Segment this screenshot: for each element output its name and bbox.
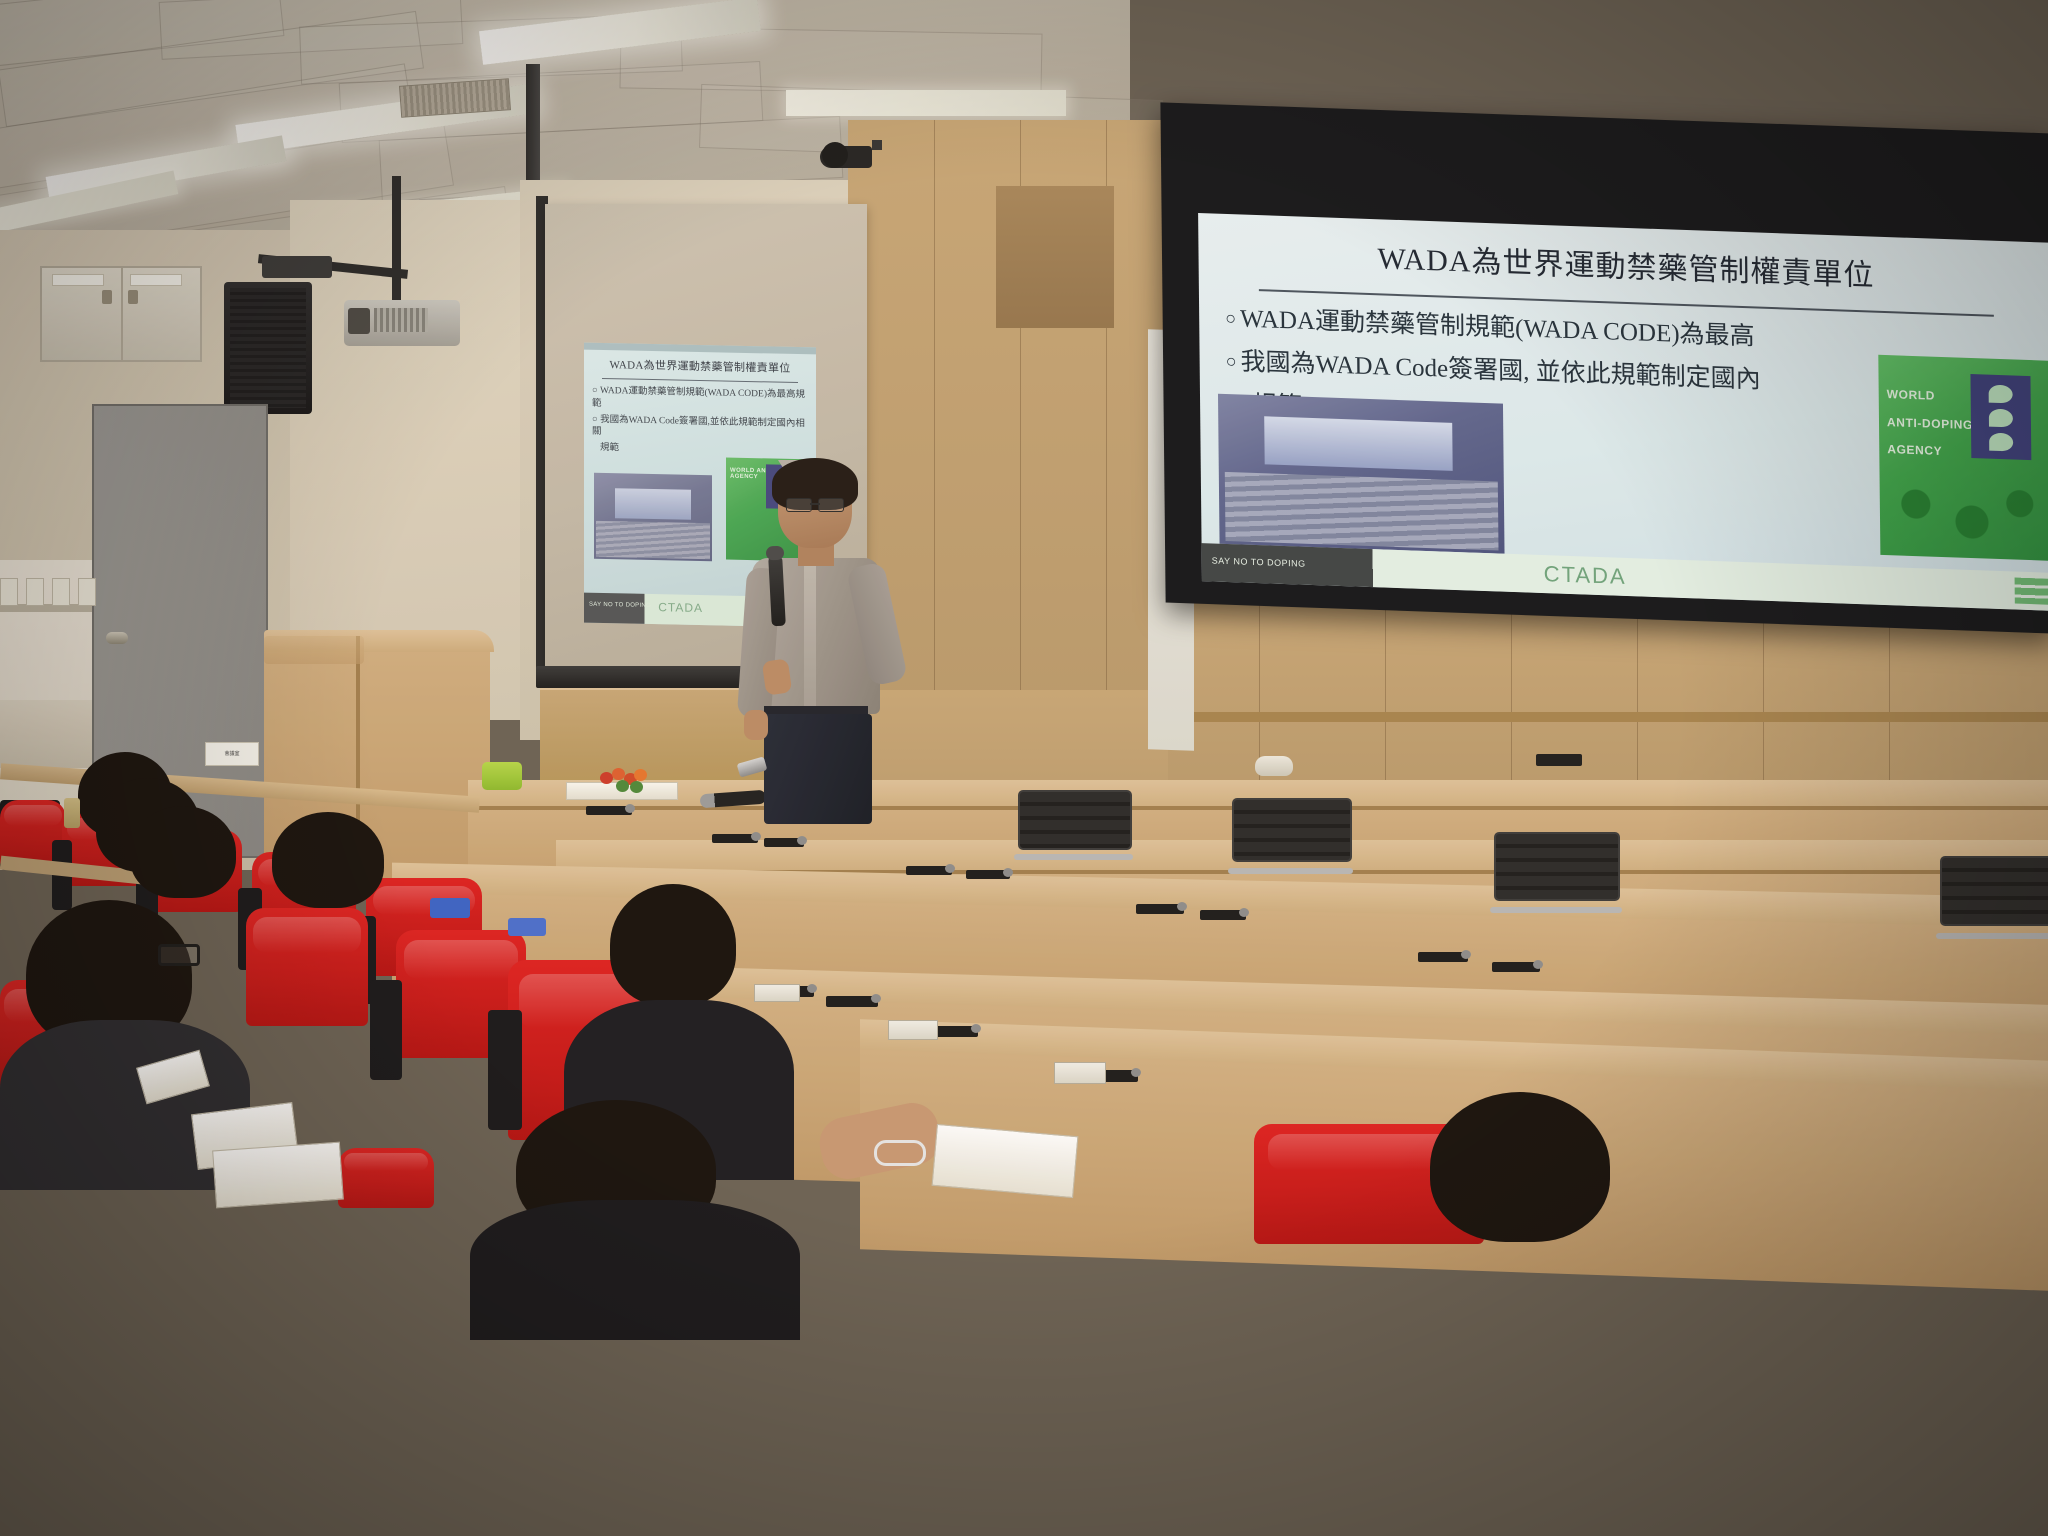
display-wada-logo-text: WORLD ANTI-DOPING AGENCY — [1887, 381, 1974, 467]
projected-ctada-logo-text: CTADA — [658, 600, 703, 615]
wall-switch[interactable] — [52, 578, 70, 606]
wall-panel-dark — [996, 186, 1114, 328]
nameplate — [754, 984, 800, 1002]
bullet-marker: ○ — [592, 414, 598, 424]
bullet-text: 我國為WADA Code簽署國,並依此規範制定國內相關 — [592, 415, 805, 438]
wall-switch[interactable] — [26, 578, 44, 606]
projected-slide-title: WADA為世界運動禁藥管制權責單位 — [584, 356, 816, 377]
security-camera — [820, 140, 882, 170]
presentation-clicker[interactable] — [737, 756, 768, 777]
desk-microphone[interactable] — [1200, 910, 1246, 920]
blue-item — [430, 898, 470, 918]
projector-vent — [374, 308, 428, 332]
speaker-bracket — [262, 256, 332, 278]
display-ctada-logo-text: CTADA — [1544, 561, 1627, 590]
red-seat[interactable] — [338, 1148, 434, 1208]
audience-head — [272, 812, 384, 908]
bullet-marker: ○ — [1225, 308, 1236, 328]
office-chair[interactable] — [1232, 798, 1348, 882]
desk-microphone[interactable] — [826, 996, 878, 1007]
booklet — [932, 1124, 1079, 1198]
presenter-trousers — [764, 714, 872, 824]
red-seat[interactable] — [246, 908, 368, 1026]
presenter-left-hand — [744, 710, 768, 740]
bullet-text: 我國為WADA Code簽署國, 並依此規範制定國內 — [1240, 348, 1760, 393]
wall-ledge — [0, 700, 100, 768]
desk-microphone[interactable] — [1136, 904, 1184, 914]
audience-head — [610, 884, 736, 1006]
electrical-cabinet[interactable] — [40, 266, 202, 362]
office-chair[interactable] — [1494, 832, 1616, 922]
marker-pen — [1536, 754, 1582, 766]
desk-microphone[interactable] — [1418, 952, 1468, 962]
wall-switch[interactable] — [0, 578, 18, 606]
bullet-marker: ○ — [1226, 351, 1237, 371]
office-chair[interactable] — [1940, 856, 2048, 948]
desk-microphone[interactable] — [906, 866, 952, 875]
flower-arrangement — [600, 768, 654, 794]
presenter-glasses — [786, 498, 844, 510]
projected-slide-bullet-2: ○ 我國為WADA Code簽署國,並依此規範制定國內相關 — [592, 413, 810, 443]
ceiling-projector — [344, 300, 460, 346]
audience-glasses — [158, 944, 200, 966]
lecture-hall-photo: WADA為世界運動禁藥管制權責單位 ○ WADA運動禁藥管制規範(WADA CO… — [0, 0, 2048, 1536]
wall-speaker — [224, 282, 312, 414]
presenter-right-hand — [762, 658, 792, 695]
projected-slide-bullet-3: 規範 — [600, 442, 810, 459]
desk-microphone[interactable] — [966, 870, 1010, 879]
ceiling-light — [786, 90, 1066, 116]
display-footer-mark — [2015, 578, 2048, 605]
water-bottle — [64, 798, 80, 828]
bullet-marker: ○ — [592, 386, 598, 396]
projected-slide-rule — [602, 378, 798, 383]
audience-head-foreground — [1430, 1092, 1610, 1242]
seat-side-panel — [488, 1010, 522, 1130]
presenter — [742, 464, 892, 824]
door-handle[interactable] — [106, 632, 128, 644]
booklet — [212, 1142, 344, 1209]
door-label: 會議室 — [205, 742, 259, 766]
nameplate — [888, 1020, 938, 1040]
desk-microphone[interactable] — [586, 806, 632, 815]
wireless-mouse[interactable] — [1255, 756, 1293, 776]
projected-slide-bullet-1: ○ WADA運動禁藥管制規範(WADA CODE)為最高規範 — [592, 385, 810, 415]
display-say-no-to-doping-label: SAY NO TO DOPING — [1212, 555, 1306, 568]
display-slide-title: WADA為世界運動禁藥管制權責單位 — [1198, 227, 2048, 301]
wall-switch[interactable] — [78, 578, 96, 606]
projected-say-no-to-doping-label: SAY NO TO DOPING — [589, 602, 651, 609]
bullet-text: WADA運動禁藥管制規範(WADA CODE)為最高規範 — [592, 386, 805, 409]
desk-microphone[interactable] — [1492, 962, 1540, 972]
projector-mount-pole — [392, 176, 401, 304]
flat-panel-display-screen[interactable]: WADA為世界運動禁藥管制權責單位 ○WADA運動禁藥管制規範(WADA COD… — [1198, 213, 2048, 611]
bullet-text: WADA運動禁藥管制規範(WADA CODE)為最高 — [1240, 305, 1755, 350]
desk-microphone[interactable] — [712, 834, 758, 843]
blue-item — [508, 918, 546, 936]
audience-shoulders — [470, 1200, 800, 1340]
display-conference-photo — [1218, 394, 1505, 554]
office-chair[interactable] — [1018, 790, 1128, 868]
display-wada-logo: WORLD ANTI-DOPING AGENCY — [1878, 355, 2048, 561]
speaker-grill — [230, 288, 306, 408]
green-bag — [482, 762, 522, 790]
nameplate — [1054, 1062, 1106, 1084]
projected-conference-photo — [594, 473, 712, 561]
audience-head — [130, 806, 236, 898]
desk-microphone[interactable] — [764, 838, 804, 847]
seat-side-panel — [370, 980, 402, 1080]
wrist-band — [874, 1140, 926, 1166]
projector-lens — [348, 308, 370, 334]
